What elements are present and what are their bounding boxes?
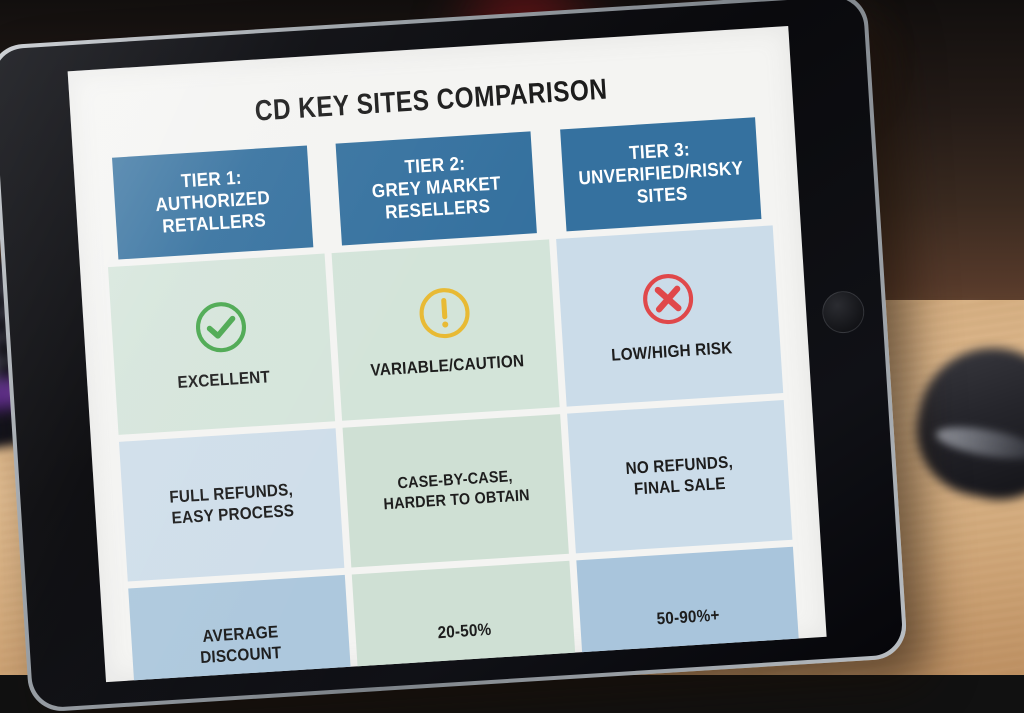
column-header-tier-3: TIER 3: UNVERIFIED/RISKY SITES	[560, 117, 762, 231]
comparison-table: TIER 1: AUTHORIZED RETALLERS TIER 2: GRE…	[101, 117, 801, 683]
column-header-tier-2: TIER 2: GREY MARKET RESELLERS	[336, 131, 538, 245]
circle-check-icon	[190, 296, 252, 358]
tablet-screen: CD KEY SITES COMPARISON TIER 1: AUTHORIZ…	[68, 26, 827, 682]
refunds-cell-tier-2: CASE-BY-CASE, HARDER TO OBTAIN	[343, 414, 569, 567]
rating-cell-tier-1: EXCELLENT	[108, 254, 335, 435]
tablet-device: CD KEY SITES COMPARISON TIER 1: AUTHORIZ…	[0, 0, 908, 713]
circle-exclamation-icon	[414, 282, 476, 344]
rating-cell-tier-3: LOW/HIGH RISK	[556, 225, 783, 406]
discount-cell-tier-1: AVERAGE DISCOUNT	[128, 575, 353, 682]
discount-tier-3-value: 50-90%+	[656, 605, 720, 630]
refunds-cell-tier-1: FULL REFUNDS, EASY PROCESS	[119, 428, 345, 581]
refunds-cell-tier-3: NO REFUNDS, FINAL SALE	[567, 400, 793, 553]
rating-label-tier-1: EXCELLENT	[177, 367, 271, 394]
circle-x-icon	[638, 268, 700, 330]
refunds-tier-3-line2: FINAL SALE	[634, 474, 727, 500]
rating-label-tier-2: VARIABLE/CAUTION	[370, 351, 525, 381]
tier-3-label-line3: SITES	[636, 184, 688, 209]
rating-label-tier-3: LOW/HIGH RISK	[611, 338, 733, 366]
rating-cell-tier-2: VARIABLE/CAUTION	[332, 239, 559, 420]
discount-tier-2-value: 20-50%	[437, 619, 492, 643]
discount-tier-1-line2: DISCOUNT	[200, 643, 282, 669]
column-header-tier-1: TIER 1: AUTHORIZED RETALLERS	[112, 145, 314, 259]
infographic-page: CD KEY SITES COMPARISON TIER 1: AUTHORIZ…	[68, 26, 827, 682]
